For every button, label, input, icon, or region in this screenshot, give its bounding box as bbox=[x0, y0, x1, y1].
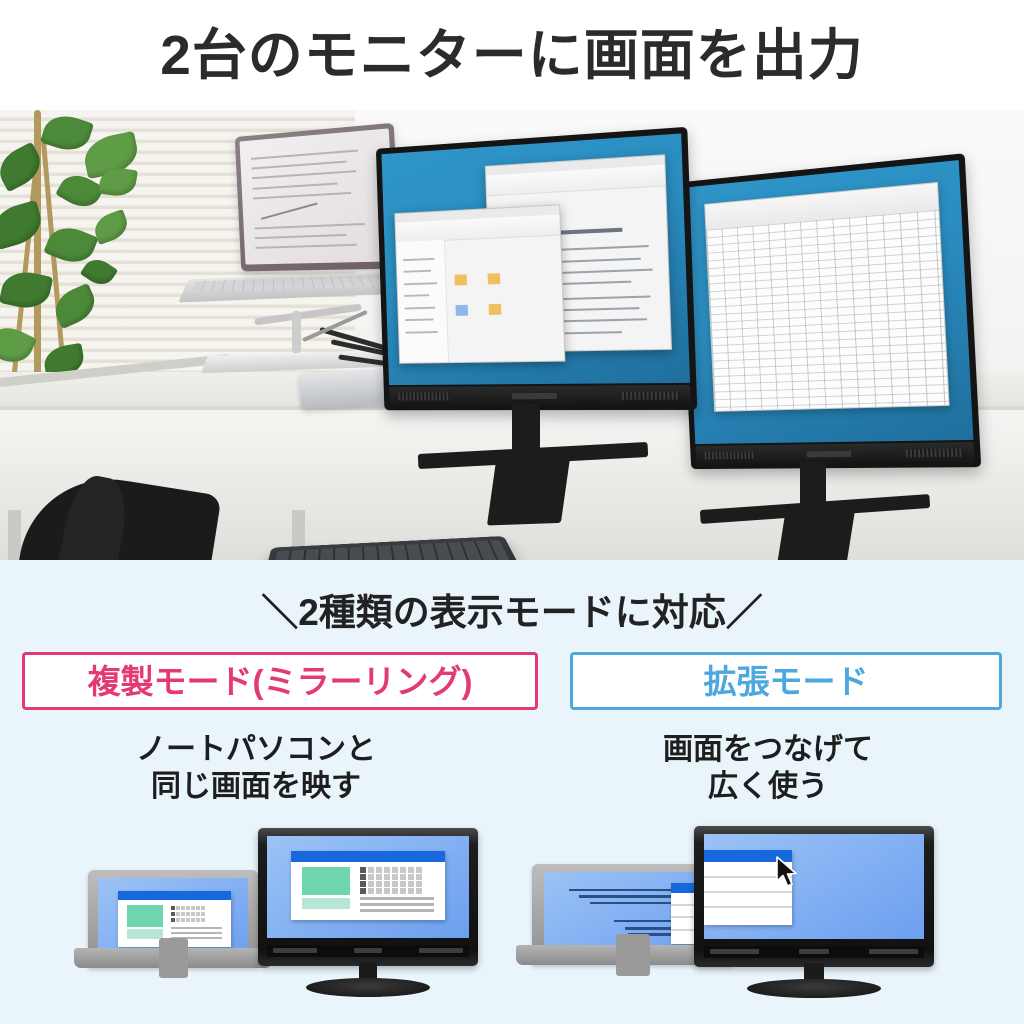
caption-mirror-line1: ノートパソコンと bbox=[0, 732, 512, 769]
illus-extend-monitor-screen bbox=[704, 834, 925, 938]
monitor-1-neck bbox=[512, 404, 540, 454]
external-monitor-1 bbox=[376, 127, 697, 410]
monitor-1-screen bbox=[381, 133, 690, 385]
laptop-screen bbox=[235, 123, 402, 272]
caption-extend-mode: 画面をつなげて 広く使う bbox=[512, 732, 1024, 805]
badge-mirror-mode[interactable]: 複製モード(ミラーリング) bbox=[22, 652, 538, 710]
badge-extend-label: 拡張モード bbox=[704, 665, 869, 698]
illustration-extend-mode bbox=[512, 818, 1024, 1008]
illus-mirror-laptop bbox=[88, 870, 258, 995]
desk-photo bbox=[0, 110, 1024, 560]
illus-extend-monitor bbox=[694, 826, 934, 1002]
caption-mirror-mode: ノートパソコンと 同じ画面を映す bbox=[0, 732, 512, 805]
monitor-1-foot-center bbox=[487, 451, 571, 526]
illus-window-mirror-large bbox=[291, 851, 445, 920]
file-explorer-window bbox=[395, 205, 566, 364]
desk-leg-left bbox=[8, 510, 21, 560]
monitor-2-screen bbox=[683, 160, 973, 444]
caption-mirror-line2: 同じ画面を映す bbox=[0, 769, 512, 806]
modes-subheading: ＼2種類の表示モードに対応／ bbox=[0, 582, 1024, 636]
illustration-mirror-mode bbox=[0, 818, 512, 1008]
badge-extend-mode[interactable]: 拡張モード bbox=[570, 652, 1002, 710]
monitor-2-foot-center bbox=[774, 504, 856, 560]
external-monitor-2 bbox=[677, 153, 981, 469]
spreadsheet-window bbox=[704, 182, 949, 412]
illus-mirror-monitor-screen bbox=[267, 836, 469, 938]
page-title: 2台のモニターに画面を出力 bbox=[160, 28, 864, 83]
caption-extend-line1: 画面をつなげて bbox=[512, 732, 1024, 769]
display-modes-panel: ＼2種類の表示モードに対応／ 複製モード(ミラーリング) 拡張モード ノートパソ… bbox=[0, 560, 1024, 1024]
mouse-cursor-icon bbox=[776, 857, 802, 889]
product-feature-graphic: 2台のモニターに画面を出力 bbox=[0, 0, 1024, 1024]
caption-extend-line2: 広く使う bbox=[512, 769, 1024, 806]
illus-mirror-monitor bbox=[258, 828, 478, 1000]
header-banner: 2台のモニターに画面を出力 bbox=[0, 0, 1024, 110]
badge-mirror-label: 複製モード(ミラーリング) bbox=[88, 665, 473, 698]
mode-badges: 複製モード(ミラーリング) 拡張モード bbox=[0, 652, 1024, 712]
